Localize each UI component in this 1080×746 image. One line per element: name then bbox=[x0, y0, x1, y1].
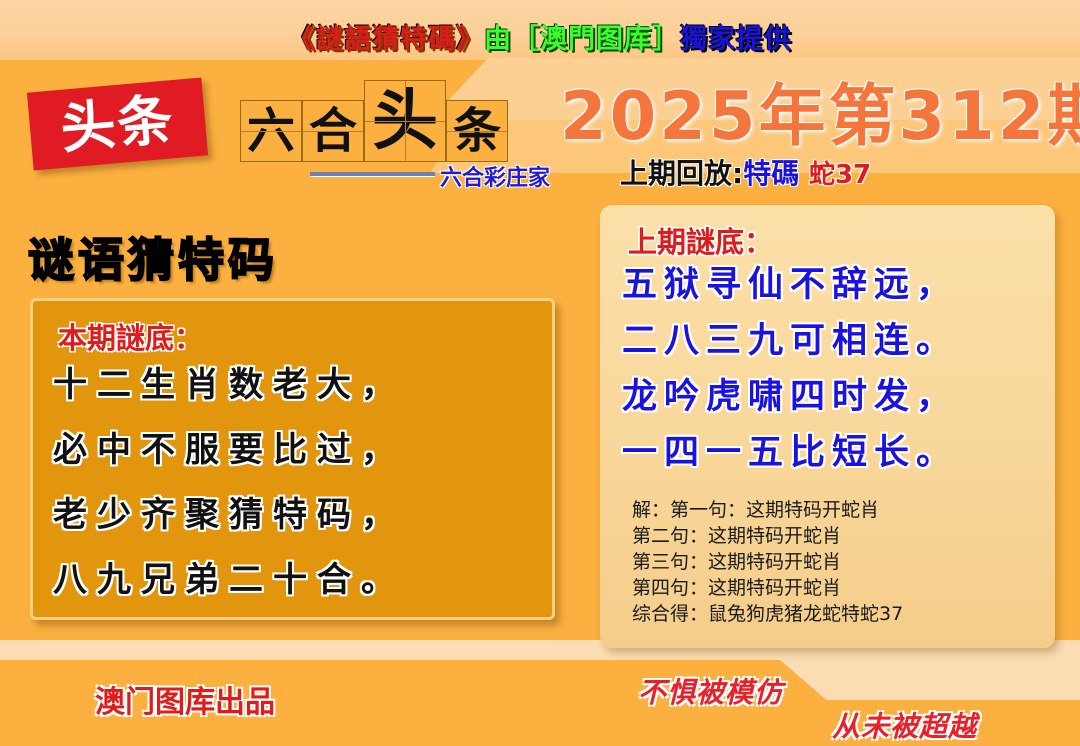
current-riddle-line: 必中不服要比过， bbox=[53, 418, 543, 483]
brand-tile-4: 条 bbox=[446, 100, 508, 162]
footer-slogan-line2: 从未被超越 bbox=[832, 705, 977, 745]
riddle-section-title: 谜语猜特码 bbox=[28, 237, 278, 283]
previous-riddle-heading: 上期謎底： bbox=[628, 219, 773, 261]
explanation-line: 第三句：这期特码开蛇肖 bbox=[632, 549, 1042, 575]
riddle-title-char-3: 猜 bbox=[128, 237, 174, 283]
current-riddle-line: 十二生肖数老大， bbox=[53, 353, 543, 418]
header-banner: 《謎語猜特碼》由［澳門图库］獨家提供 bbox=[0, 17, 1080, 56]
explanation-line: 解：第一句：这期特码开蛇肖 bbox=[632, 497, 1042, 523]
last-draw-replay: 上期回放:特碼 蛇37 bbox=[620, 152, 871, 192]
headline-stamp-logo: 头条 bbox=[27, 78, 208, 171]
issue-title: 2025年第312期 bbox=[560, 62, 1080, 159]
explanation-summary: 综合得：鼠兔狗虎猪龙蛇特蛇37 bbox=[632, 601, 1042, 627]
brand-underline-rule bbox=[310, 172, 435, 176]
riddle-title-char-2: 语 bbox=[78, 237, 124, 283]
current-riddle-line: 八九兄弟二十合。 bbox=[53, 548, 543, 613]
explanation-line: 第二句：这期特码开蛇肖 bbox=[632, 523, 1042, 549]
explanation-line: 第四句：这期特码开蛇肖 bbox=[632, 575, 1042, 601]
riddle-title-char-5: 码 bbox=[228, 237, 274, 283]
brand-tile-2: 合 bbox=[302, 100, 364, 162]
header-part-source: ［澳門图库］ bbox=[512, 17, 680, 56]
previous-riddle-line: 一四一五比短长。 bbox=[622, 425, 1042, 481]
header-part-exclusive: 獨家提供 bbox=[680, 17, 792, 56]
current-riddle-panel: 本期謎底： 十二生肖数老大， 必中不服要比过， 老少齐聚猜特码， 八九兄弟二十合… bbox=[30, 298, 555, 620]
poster-canvas: 《謎語猜特碼》由［澳門图库］獨家提供 头条 六 合 头 条 六合彩庄家 2025… bbox=[0, 0, 1080, 746]
footer-publisher: 澳门图库出品 bbox=[95, 677, 275, 721]
current-riddle-line: 老少齐聚猜特码， bbox=[53, 483, 543, 548]
current-riddle-lines: 十二生肖数老大， 必中不服要比过， 老少齐聚猜特码， 八九兄弟二十合。 bbox=[53, 353, 543, 613]
brand-subtitle: 六合彩庄家 bbox=[440, 160, 550, 192]
brand-tiles: 六 合 头 条 bbox=[240, 80, 508, 162]
replay-value: 蛇37 bbox=[809, 154, 871, 191]
header-part-title: 《謎語猜特碼》 bbox=[288, 17, 484, 56]
brand-tile-3: 头 bbox=[364, 80, 446, 162]
previous-riddle-line: 五狱寻仙不辞远， bbox=[622, 257, 1042, 313]
header-part-by: 由 bbox=[484, 17, 512, 56]
previous-riddle-line: 二八三九可相连。 bbox=[622, 313, 1042, 369]
previous-riddle-panel: 上期謎底： 五狱寻仙不辞远， 二八三九可相连。 龙吟虎啸四时发， 一四一五比短长… bbox=[600, 205, 1055, 648]
riddle-title-char-1: 谜 bbox=[28, 237, 74, 283]
headline-stamp-text: 头条 bbox=[58, 92, 176, 157]
previous-riddle-lines: 五狱寻仙不辞远， 二八三九可相连。 龙吟虎啸四时发， 一四一五比短长。 bbox=[622, 257, 1042, 481]
replay-label: 上期回放: bbox=[620, 152, 743, 192]
riddle-title-char-4: 特 bbox=[178, 237, 224, 283]
brand-tile-1: 六 bbox=[240, 100, 302, 162]
replay-code-label: 特碼 bbox=[743, 152, 799, 192]
current-riddle-heading: 本期謎底： bbox=[58, 315, 203, 357]
previous-riddle-line: 龙吟虎啸四时发， bbox=[622, 369, 1042, 425]
footer-slogan-line1: 不惧被模仿 bbox=[638, 671, 783, 711]
previous-riddle-explanations: 解：第一句：这期特码开蛇肖 第二句：这期特码开蛇肖 第三句：这期特码开蛇肖 第四… bbox=[632, 497, 1042, 627]
